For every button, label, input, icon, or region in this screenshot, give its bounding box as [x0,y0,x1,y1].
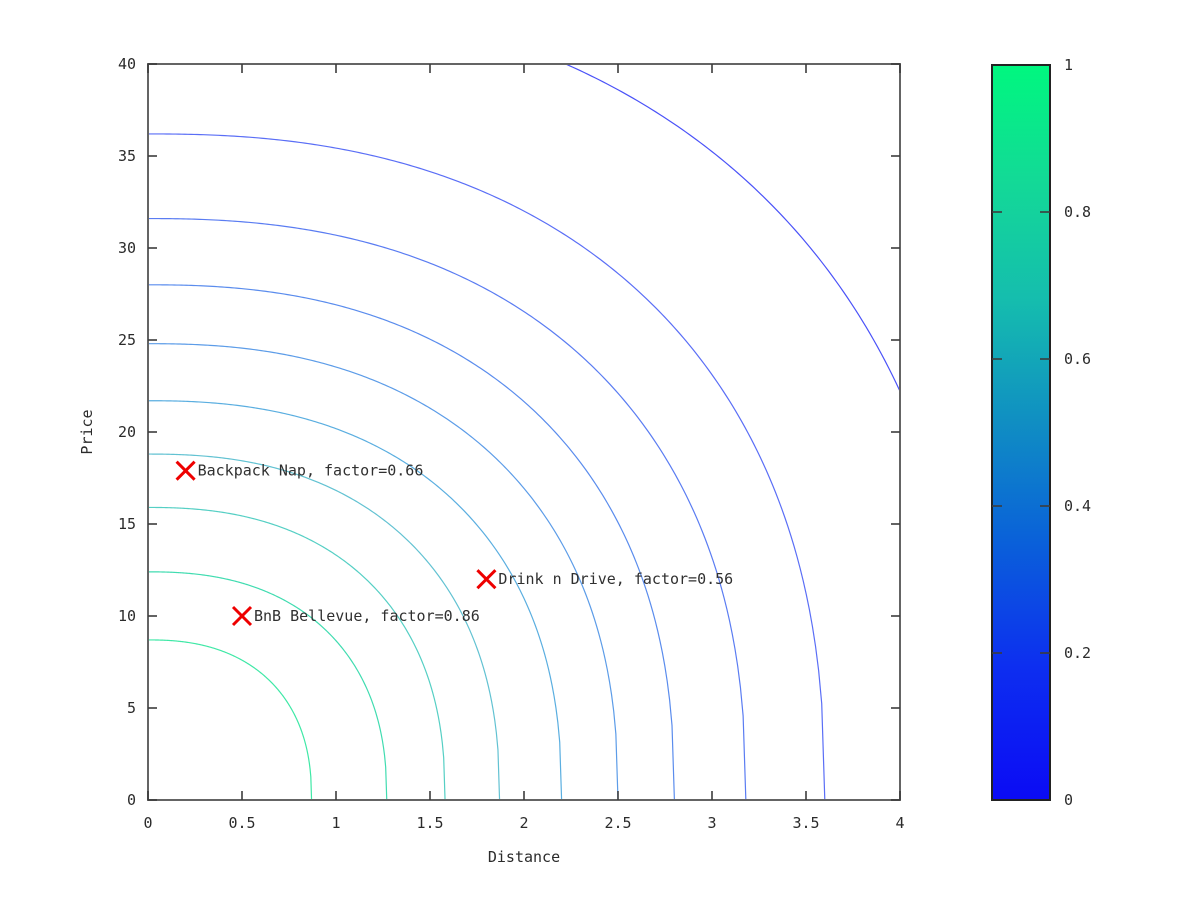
x-tick-label: 1.5 [416,814,443,832]
y-tick-label: 25 [118,331,136,349]
x-tick-label: 4 [895,814,904,832]
colorbar-tick-label: 0.6 [1064,350,1091,368]
y-tick-label: 5 [127,699,136,717]
x-tick-label: 1 [331,814,340,832]
colorbar-tick-label: 0 [1064,791,1073,809]
y-tick-label: 35 [118,147,136,165]
figure-canvas: 00.511.522.533.54 0510152025303540 Dista… [0,0,1200,900]
y-tick-label: 0 [127,791,136,809]
x-tick-label: 0.5 [228,814,255,832]
y-tick-label: 10 [118,607,136,625]
data-point-label: Drink n Drive, factor=0.56 [498,570,733,588]
x-tick-label: 3 [707,814,716,832]
colorbar-tick-label: 0.4 [1064,497,1091,515]
contour-plot-figure: 00.511.522.533.54 0510152025303540 Dista… [0,0,1200,900]
colorbar-tick-label: 0.2 [1064,644,1091,662]
x-tick-label: 2.5 [604,814,631,832]
x-tick-label: 3.5 [792,814,819,832]
x-tick-label: 2 [519,814,528,832]
x-axis-title: Distance [488,848,560,866]
y-tick-label: 30 [118,239,136,257]
colorbar-tick-label: 1 [1064,56,1073,74]
y-axis-title: Price [78,409,96,454]
colorbar-tick-label: 0.8 [1064,203,1091,221]
x-tick-label: 0 [143,814,152,832]
y-tick-label: 15 [118,515,136,533]
colorbar-gradient [992,65,1050,800]
data-point-label: BnB Bellevue, factor=0.86 [254,607,480,625]
y-tick-label: 40 [118,55,136,73]
y-tick-label: 20 [118,423,136,441]
data-point-label: Backpack Nap, factor=0.66 [198,462,424,480]
